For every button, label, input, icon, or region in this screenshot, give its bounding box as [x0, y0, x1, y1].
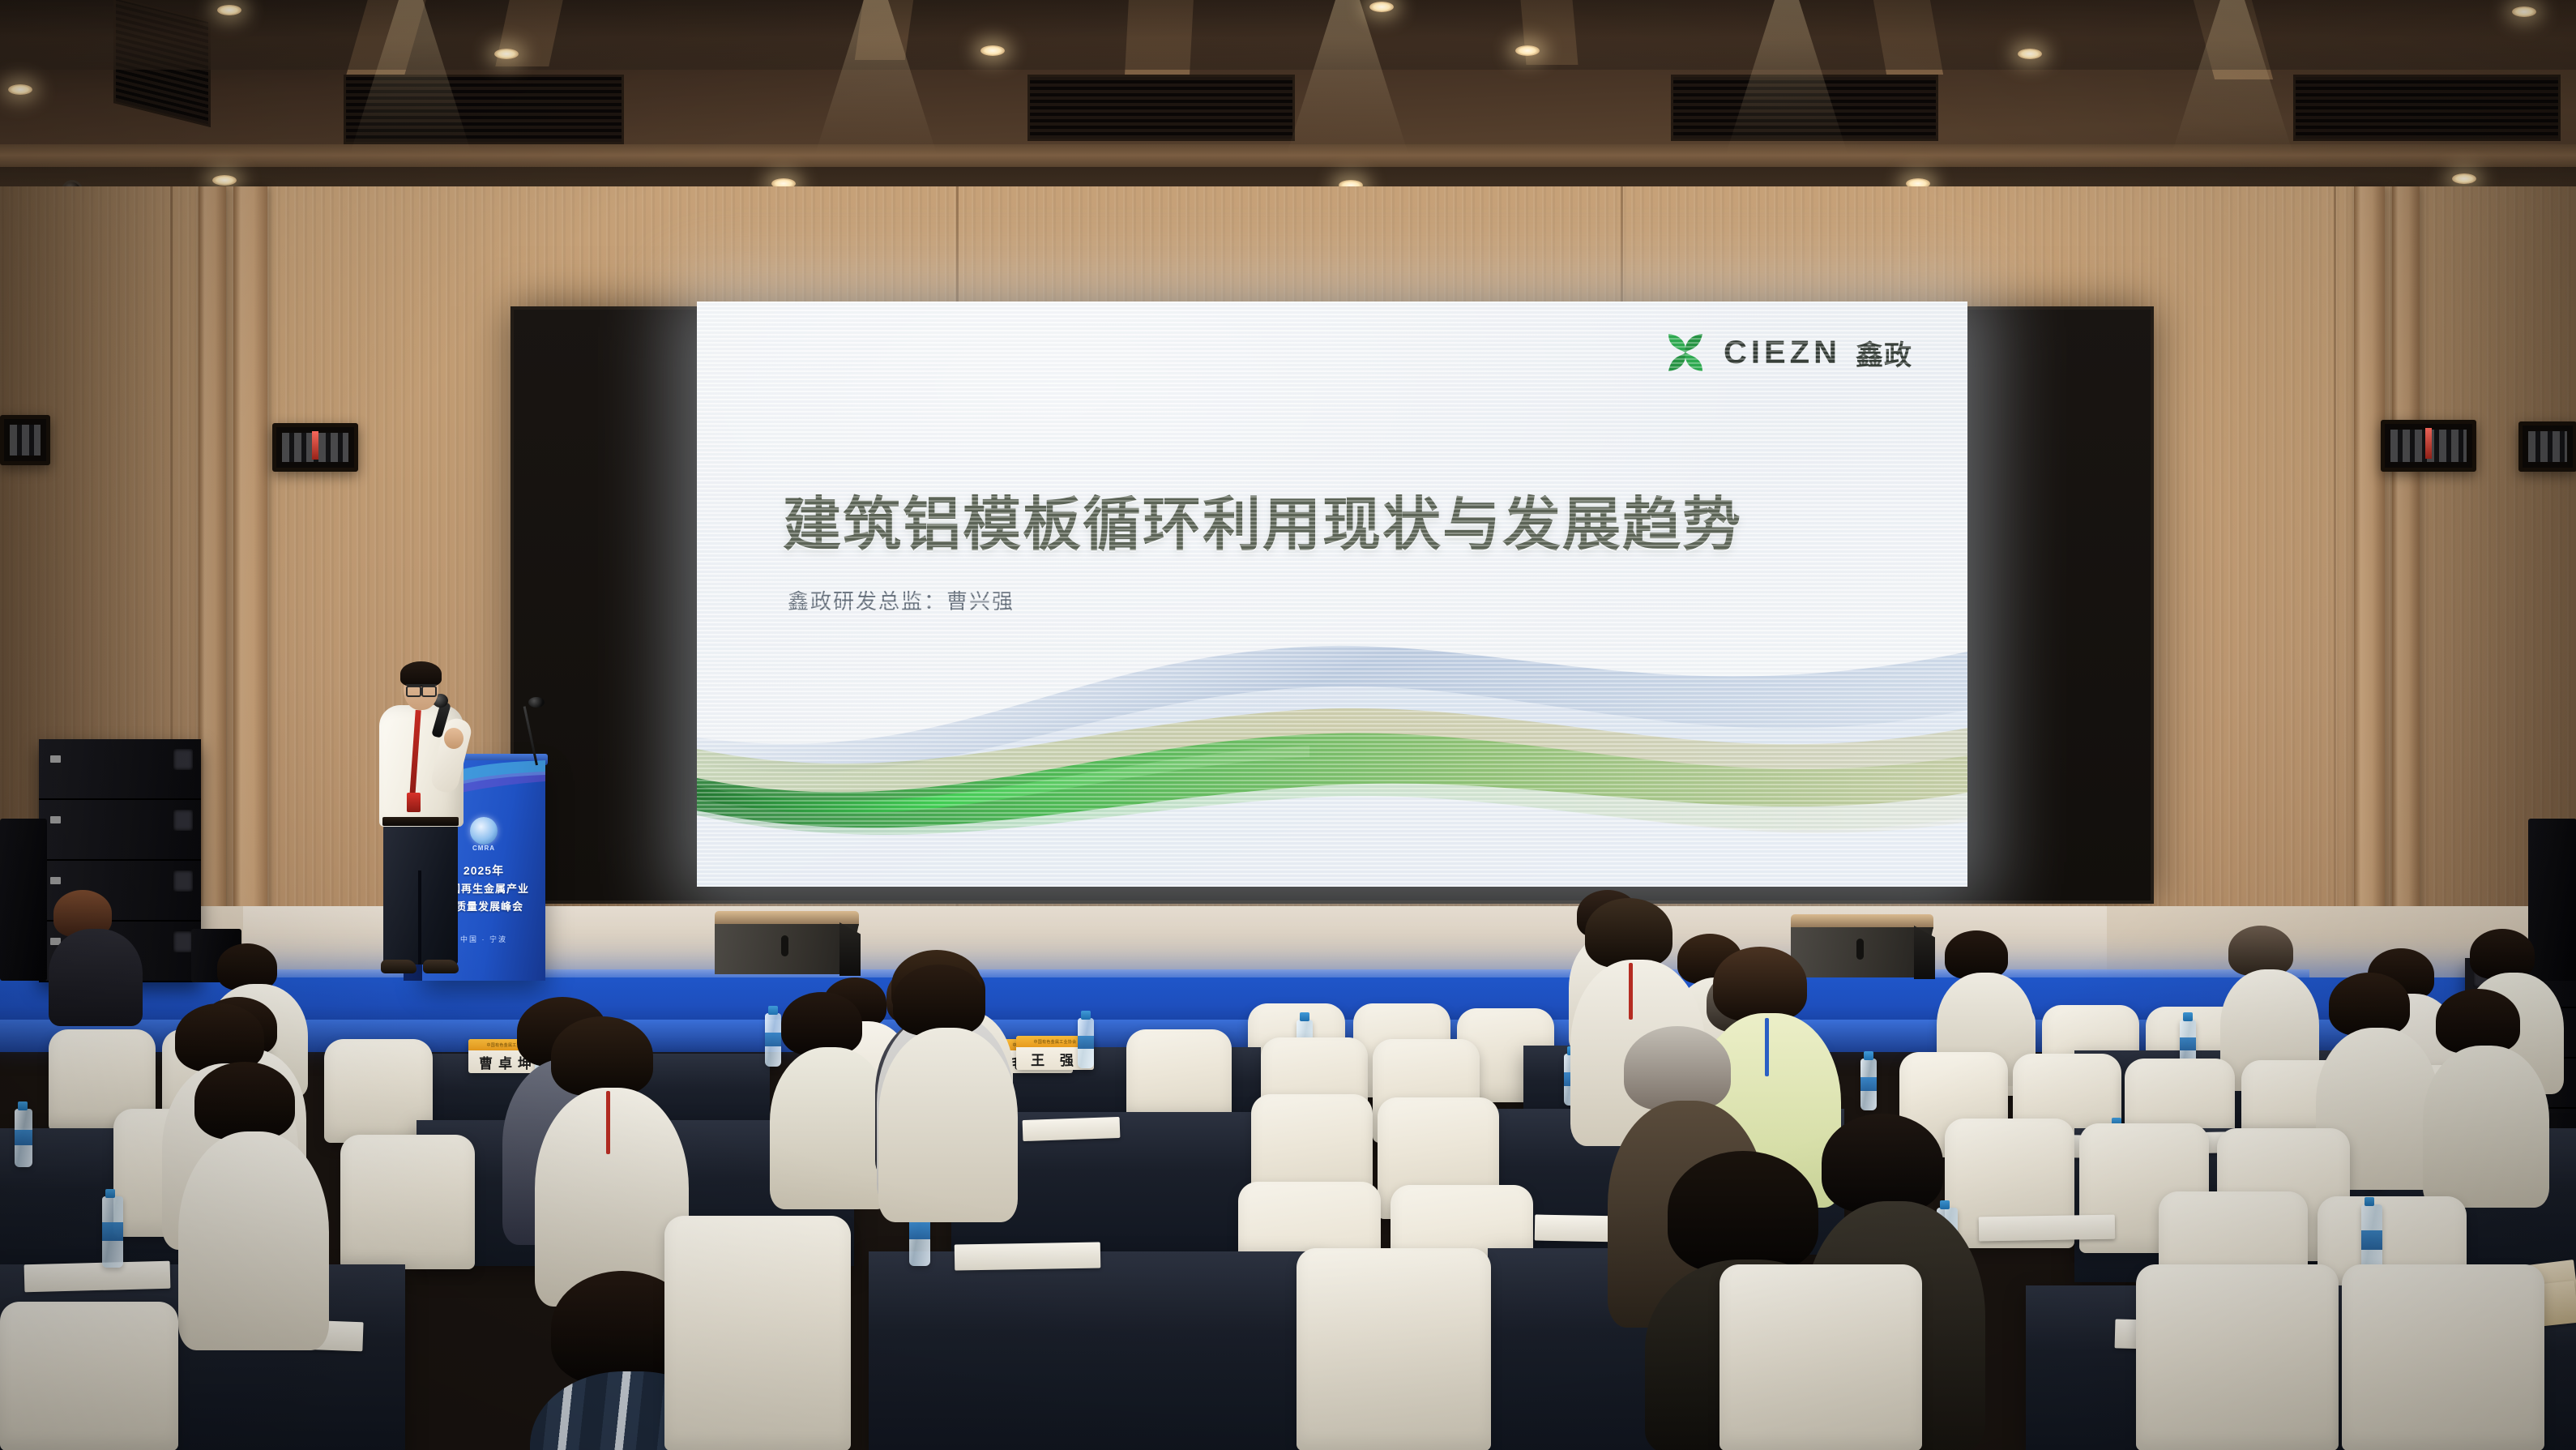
ceiling-downlight: [212, 175, 237, 186]
attendee-hair: [1945, 930, 2008, 979]
vent-red-marker: [2425, 428, 2432, 459]
bottle-cap: [1864, 1051, 1873, 1060]
document-sheet: [1023, 1117, 1121, 1141]
vent-slats: [2528, 431, 2567, 462]
attendee-torso: [49, 929, 143, 1026]
bottle-label: [2361, 1230, 2382, 1249]
cmra-logo-icon: [470, 817, 498, 845]
chair: [1297, 1248, 1491, 1450]
bottle-label: [2180, 1037, 2196, 1050]
ciezn-logo-icon: [1662, 329, 1709, 376]
bottle-label: [1860, 1077, 1877, 1091]
attendee-hair: [2228, 926, 2293, 976]
attendee-hair: [2329, 973, 2410, 1036]
ceiling-downlight: [494, 49, 519, 59]
array-badge: [50, 816, 61, 823]
attendee-torso: [178, 1131, 329, 1350]
placard-org-text: 中国有色金属工业协会: [1033, 1039, 1076, 1045]
bottle-cap: [18, 1101, 28, 1110]
ceiling-downlight: [1515, 45, 1540, 56]
bottle-label: [102, 1222, 123, 1241]
ceiling-downlight: [8, 84, 32, 95]
bottle-cap: [1940, 1200, 1950, 1209]
monitor-top: [1791, 914, 1933, 929]
attendee-hair: [1624, 1026, 1731, 1110]
slide-brand-logo: CIEZN 鑫政: [1662, 329, 1912, 376]
stage-monitor-speaker: [715, 911, 859, 979]
chair: [2342, 1264, 2544, 1450]
document-sheet: [955, 1242, 1101, 1270]
attendee-lanyard: [606, 1091, 610, 1154]
presenter-glasses-icon: [406, 684, 437, 692]
slide-subtitle: 鑫政研发总监：曹兴强: [788, 585, 1015, 615]
ceiling-downlight: [217, 5, 241, 15]
bottle-label: [909, 1221, 930, 1239]
bottle-label: [765, 1033, 781, 1046]
ceiling-downlight: [2512, 6, 2536, 17]
array-badge: [50, 755, 61, 763]
vent-slats: [10, 425, 41, 456]
array-port: [173, 870, 193, 892]
slide-title: 建筑铝模板循环利用现状与发展趋势: [783, 477, 1742, 562]
water-bottle: [102, 1196, 123, 1268]
presenter-hair: [400, 661, 442, 687]
ceiling-downlight: [2452, 173, 2476, 184]
chair: [664, 1216, 851, 1450]
document-sheet: [24, 1261, 171, 1293]
ceiling-air-grille: [1027, 75, 1295, 141]
bottle-label: [15, 1130, 32, 1145]
presenter-badge: [407, 793, 421, 812]
ceiling-downlight: [980, 45, 1005, 56]
attendee-hair: [1668, 1151, 1818, 1272]
line-array-module: [39, 800, 201, 861]
brand-latin-name: CIEZN: [1724, 335, 1841, 371]
attendee-hair: [551, 1016, 653, 1096]
chair: [1719, 1264, 1922, 1450]
wall-vent-panel: [2518, 421, 2576, 472]
bottle-cap: [105, 1189, 115, 1198]
line-array-module: [39, 739, 201, 800]
water-bottle: [765, 1013, 781, 1067]
bottle-cap: [2365, 1197, 2374, 1206]
presenter-shoe-right: [423, 960, 459, 973]
attendee-torso: [2423, 1046, 2549, 1208]
conference-hall-scene: CIEZN 鑫政 建筑铝模板循环利用现状与发展趋势 鑫政研发总监：曹兴强 CMR…: [0, 0, 2576, 1450]
attendee-torso: [770, 1047, 891, 1209]
bottle-cap: [768, 1006, 778, 1015]
wall-vent-panel: [0, 415, 50, 465]
subwoofer-left: [0, 819, 47, 981]
wall-vent-panel: [272, 423, 358, 472]
vent-red-marker: [312, 431, 318, 460]
bottle-label: [1078, 1036, 1094, 1049]
array-badge: [50, 877, 61, 884]
attendee-hair: [1713, 947, 1807, 1021]
conference-table: [869, 1251, 1322, 1450]
array-port: [173, 749, 193, 770]
presenter-belt: [382, 817, 459, 826]
attendee-hair: [2436, 989, 2520, 1054]
presenter-hand: [444, 728, 464, 749]
monitor-handle-slot: [1856, 939, 1864, 960]
podium-mic-head-icon: [528, 697, 545, 708]
chair: [340, 1135, 475, 1269]
attendee-lanyard: [1765, 1018, 1769, 1076]
attendee-torso: [878, 1028, 1018, 1222]
attendee-hair: [893, 965, 985, 1036]
attendee-hair: [217, 943, 277, 990]
slide-wave-graphic: [697, 619, 1967, 887]
ceiling-downlight: [2018, 49, 2042, 59]
subwoofer-right: [2528, 819, 2576, 981]
presenter-shoe-left: [381, 960, 417, 973]
ceiling-air-grille: [2293, 75, 2561, 141]
attendee-hair: [781, 992, 862, 1055]
presenter-leg-split: [418, 870, 421, 965]
array-port: [173, 810, 193, 831]
water-bottle: [15, 1109, 32, 1167]
water-bottle: [1078, 1018, 1094, 1068]
wall-vent-panel: [2381, 420, 2476, 472]
attendee-hair: [1822, 1114, 1943, 1213]
stage-monitor-speaker: [1791, 914, 1933, 982]
attendee-hair: [1585, 898, 1672, 968]
chair: [2136, 1264, 2339, 1450]
bottle-cap: [1300, 1012, 1309, 1021]
bottle-cap: [1081, 1011, 1091, 1020]
attendee-hair: [194, 1062, 295, 1140]
brand-chinese-name: 鑫政: [1856, 333, 1912, 373]
attendee-hair: [2470, 929, 2535, 979]
monitor-top: [715, 911, 859, 926]
attendee-lanyard: [1629, 963, 1633, 1020]
array-port: [173, 931, 193, 952]
presentation-slide[interactable]: CIEZN 鑫政 建筑铝模板循环利用现状与发展趋势 鑫政研发总监：曹兴强: [697, 302, 1967, 887]
monitor-handle-slot: [781, 935, 788, 956]
chair: [0, 1302, 178, 1450]
water-bottle: [1860, 1059, 1877, 1110]
bottle-cap: [2183, 1012, 2193, 1021]
document-sheet: [1979, 1215, 2115, 1242]
ceiling-downlight: [1369, 2, 1394, 12]
